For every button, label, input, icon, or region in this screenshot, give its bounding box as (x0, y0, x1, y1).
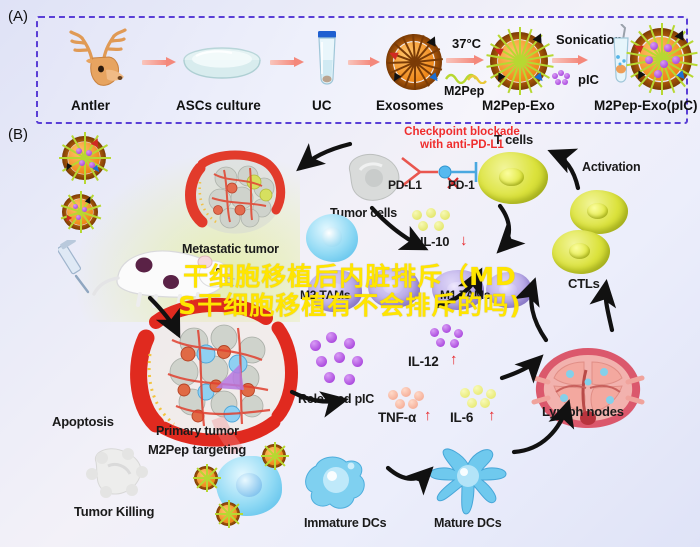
label-activation: Activation (582, 160, 640, 174)
t-cell-icon-1 (478, 152, 548, 204)
ctl-cell-icon-1 (570, 190, 628, 234)
metastatic-tumor-icon (178, 148, 298, 244)
trend-il-10: ↓ (460, 232, 467, 249)
exosome-icon (386, 34, 442, 90)
m2pep-peptide-icon (444, 70, 490, 84)
watermark-text: 干细胞移植后内脏排斥（MD S干细胞移植有不会排斥的吗) (0, 262, 700, 320)
panel-a: Antler ASCs culture (36, 16, 688, 124)
label-immature-dcs: Immature DCs (304, 516, 386, 530)
label-pd-1: PD-1 (448, 178, 475, 192)
label-il-12: IL-12 (408, 354, 439, 369)
panel-a-label-m2pep-exo-pic: M2Pep-Exo(pIC) (594, 98, 698, 113)
mature-dc-icon (424, 442, 512, 518)
il-10-cytokine-dots (412, 208, 458, 234)
label-t-cells: T cells (494, 132, 533, 147)
panel-a-label-uc: UC (312, 98, 332, 113)
lymph-node-icon (528, 342, 648, 436)
label-m2pep-targeting: M2Pep targeting (148, 442, 246, 457)
dendritic-cell-icon-upper (306, 214, 358, 262)
m2pep-exosome-icon (490, 32, 548, 90)
trend-il-12: ↑ (450, 351, 457, 368)
label-il-6: IL-6 (450, 410, 473, 425)
reaction-reagent-pic: pIC (578, 72, 599, 87)
free-exosome-icon-2 (62, 194, 98, 230)
deer-icon (62, 24, 138, 90)
arrow-antler-to-culture (142, 58, 176, 67)
label-il-10: IL-10 (420, 234, 449, 249)
il-6-cytokine-dots (460, 384, 506, 408)
panel-a-label-antler: Antler (71, 98, 110, 113)
petri-dish-icon (180, 44, 264, 84)
label-primary-tumor: Primary tumor (156, 424, 239, 438)
panel-a-label-exosomes: Exosomes (376, 98, 444, 113)
released-pic-dots (310, 332, 380, 388)
arrow-culture-to-uc (270, 58, 304, 67)
trend-il-6: ↑ (488, 407, 495, 424)
label-apoptosis: Apoptosis (52, 414, 114, 429)
watermark-line-1: 干细胞移植后内脏排斥（MD (0, 262, 700, 291)
arrow-m2pepexo-to-sonication (552, 56, 588, 65)
immature-dc-icon (296, 448, 372, 516)
targeting-exosome-icon-3 (216, 502, 240, 526)
pic-molecule-icon (552, 70, 574, 86)
label-released-pic: Released pIC (298, 392, 374, 406)
arrow-uc-to-exosomes (348, 58, 380, 67)
label-tnf-alpha: TNF-α (378, 410, 416, 425)
il-12-cytokine-dots (428, 324, 474, 350)
reaction-reagent-m2pep: M2Pep (444, 84, 484, 98)
arrow-exosome-to-m2pepexo (446, 56, 484, 65)
panel-a-label-ascs-culture: ASCs culture (176, 98, 261, 113)
panel-a-label-m2pep-exo: M2Pep-Exo (482, 98, 555, 113)
apoptotic-cell-icon (82, 444, 156, 506)
label-tumor-killing: Tumor Killing (74, 504, 154, 519)
m2pep-exosome-pic-icon (630, 28, 692, 90)
targeting-exosome-icon-2 (194, 466, 218, 490)
trend-tnf-alpha: ↑ (424, 407, 431, 424)
panel-a-tag: (A) (8, 8, 28, 25)
watermark-line-2: S干细胞移植有不会排斥的吗) (0, 291, 700, 320)
label-lymph-nodes: Lymph nodes (542, 404, 624, 419)
label-pd-l1: PD-L1 (388, 178, 422, 192)
figure-canvas: (A) Antler (0, 0, 700, 547)
panel-b: Metastatic tumor Checkpoint blockade wit… (0, 122, 700, 547)
reaction-condition-37c: 37°C (452, 36, 481, 51)
free-exosome-icon-1 (62, 136, 106, 180)
targeting-exosome-icon-1 (262, 444, 286, 468)
centrifuge-tube-icon (312, 30, 342, 92)
label-metastatic-tumor: Metastatic tumor (182, 242, 279, 256)
label-mature-dcs: Mature DCs (434, 516, 501, 530)
